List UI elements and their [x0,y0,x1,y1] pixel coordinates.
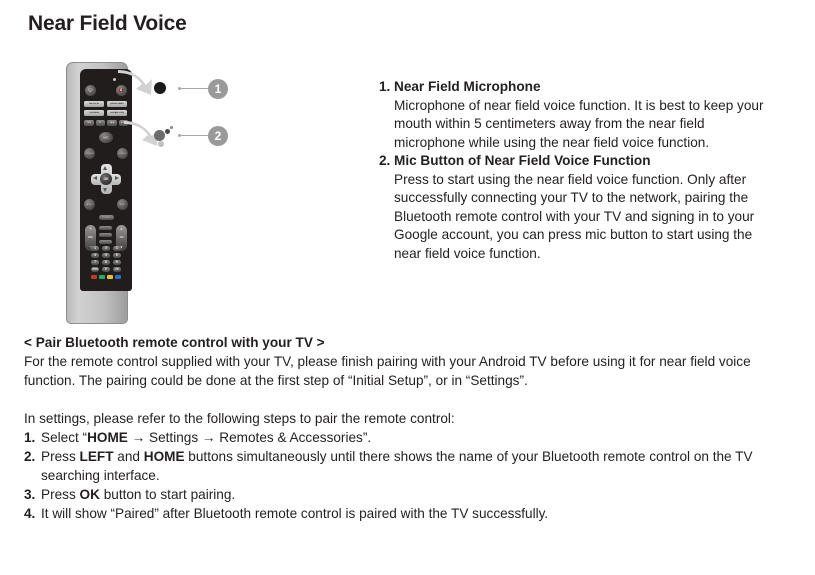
description-heading-1: 1. Near Field Microphone [379,78,779,97]
descriptions-list: 1. Near Field Microphone Microphone of n… [379,78,779,263]
mic-button-dot [154,130,165,141]
arrow-to-mic-button-icon [124,121,158,146]
step-text-4: It will show “Paired” after Bluetooth re… [41,504,794,523]
pairing-heading: < Pair Bluetooth remote control with you… [24,333,794,352]
step-2-bold-1: LEFT [80,449,114,464]
mic-button-dot-small-3 [158,141,164,147]
pairing-step-3: 3. Press OK button to start pairing. [24,485,794,504]
step-1-text-mid: → Settings → Remotes & Accessories”. [128,430,371,445]
document-page: Near Field Voice ⏻ 🔇 NETFLIX prime video [0,0,815,575]
description-title-1: Near Field Microphone [394,78,541,97]
mic-button-dot-small-1 [165,129,170,134]
description-number-2: 2. [379,152,394,171]
steps-intro: In settings, please refer to the followi… [24,409,794,428]
description-item-1: 1. Near Field Microphone Microphone of n… [379,78,779,152]
description-item-2: 2. Mic Button of Near Field Voice Functi… [379,152,779,263]
step-number-4: 4. [24,504,41,523]
step-text-3: Press OK button to start pairing. [41,485,794,504]
step-2-text-before: Press [41,449,80,464]
step-text-1: Select “HOME → Settings → Remotes & Acce… [41,428,794,447]
step-1-text-before: Select “ [41,430,87,445]
arrow-to-microphone-icon [118,70,152,95]
pairing-section: < Pair Bluetooth remote control with you… [24,333,794,523]
description-body-2: Press to start using the near field voic… [379,171,779,264]
callout-badge-2: 2 [208,126,228,146]
pairing-step-2: 2. Press LEFT and HOME buttons simultane… [24,447,794,485]
description-heading-2: 2. Mic Button of Near Field Voice Functi… [379,152,779,171]
step-1-bold-1: HOME [87,430,128,445]
near-field-microphone-dot [154,82,166,94]
description-title-2: Mic Button of Near Field Voice Function [394,152,651,171]
step-3-text-mid: button to start pairing. [100,487,235,502]
step-2-bold-2: HOME [144,449,185,464]
step-number-2: 2. [24,447,41,485]
pairing-step-1: 1. Select “HOME → Settings → Remotes & A… [24,428,794,447]
step-text-2: Press LEFT and HOME buttons simultaneous… [41,447,794,485]
step-number-3: 3. [24,485,41,504]
step-3-bold-1: OK [80,487,100,502]
step-number-1: 1. [24,428,41,447]
step-3-text-before: Press [41,487,80,502]
step-2-text-mid: and [114,449,144,464]
leader-line-1 [181,88,208,90]
callout-badge-1: 1 [208,79,228,99]
pairing-paragraph: For the remote control supplied with you… [24,352,794,390]
leader-line-2 [181,135,208,137]
description-body-1: Microphone of near field voice function.… [379,97,779,153]
pairing-step-4: 4. It will show “Paired” after Bluetooth… [24,504,794,523]
description-number-1: 1. [379,78,394,97]
mic-button-dot-small-2 [170,126,173,129]
